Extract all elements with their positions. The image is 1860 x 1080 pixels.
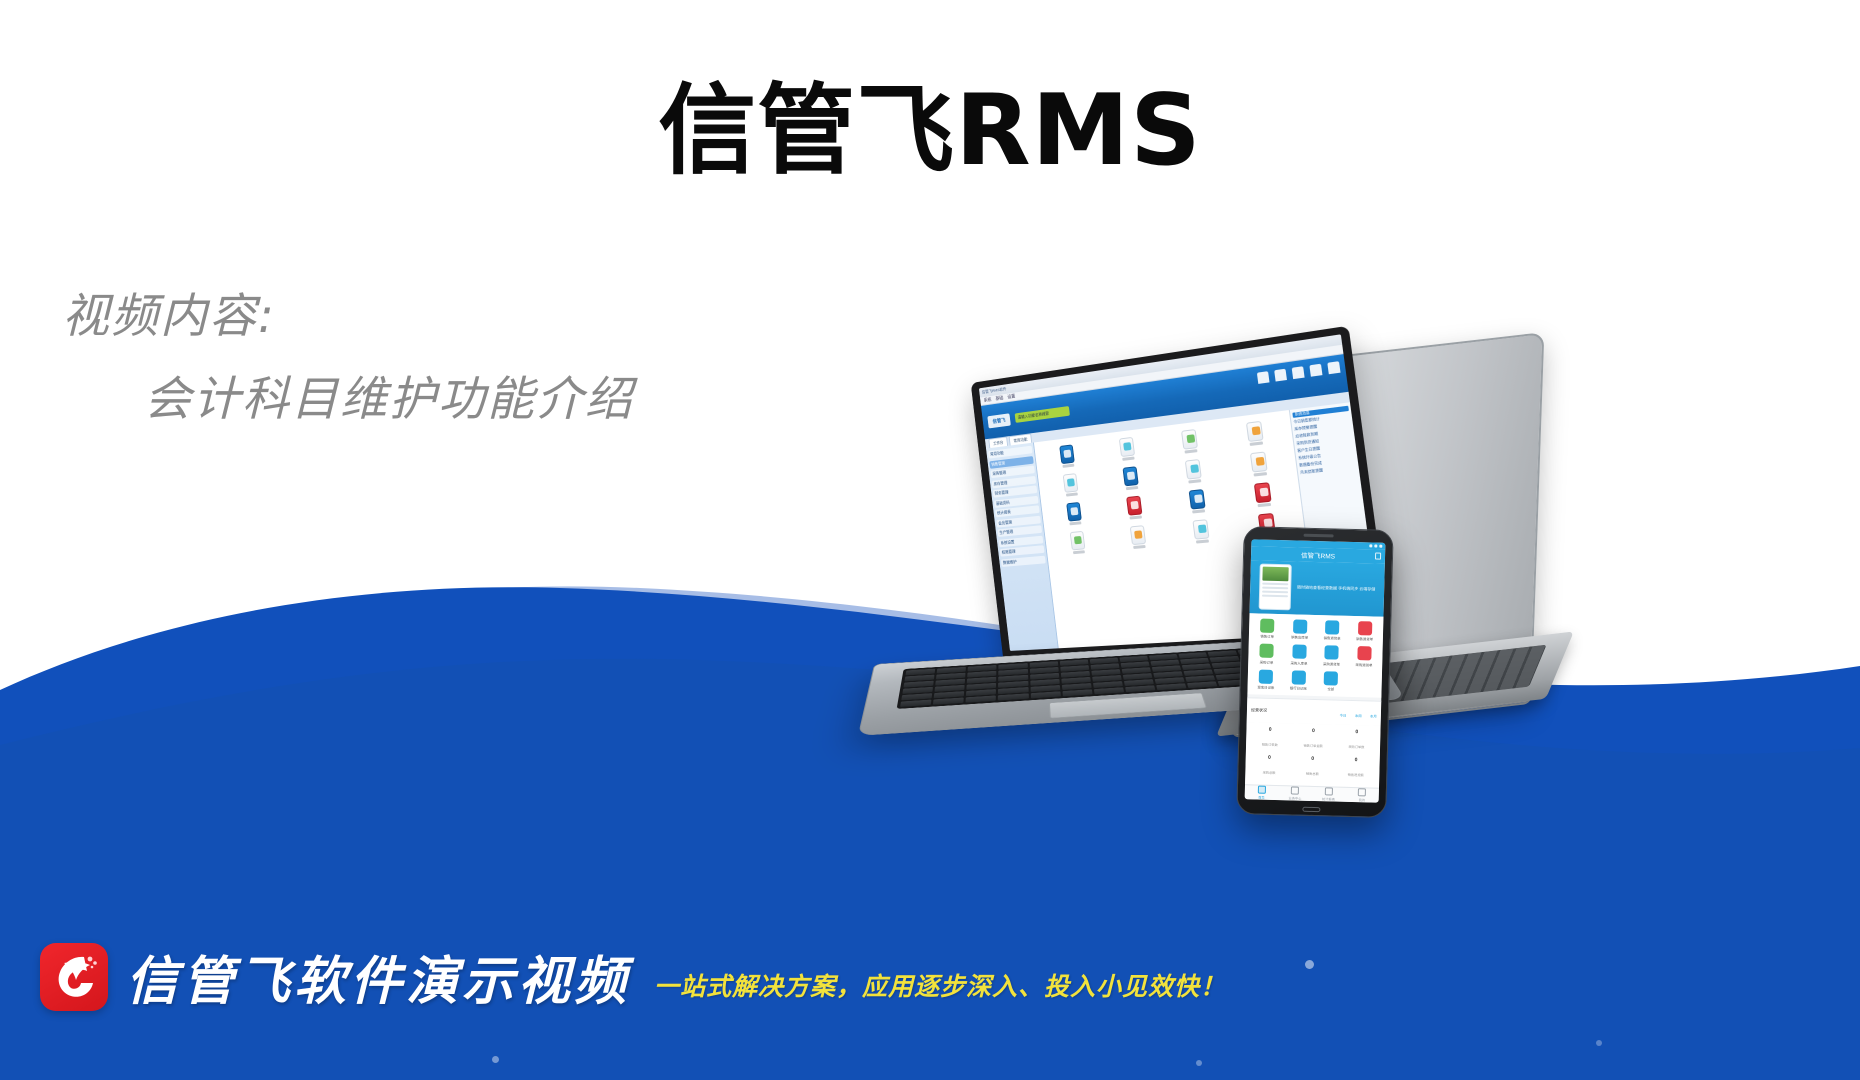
phone-section-header: 经营状况 今日 本周 本月 <box>1247 697 1382 725</box>
phone-icon-4 <box>1260 644 1274 658</box>
grid-icon-12 <box>1069 531 1085 551</box>
phone-icon-6 <box>1325 645 1339 659</box>
grid-icon-4 <box>1062 473 1078 493</box>
phone-tab-label-3: 我的 <box>1359 797 1366 802</box>
ribbon-icon-4[interactable] <box>1309 364 1324 388</box>
ribbon-icon-2[interactable] <box>1274 369 1288 393</box>
phone-tab-business[interactable]: 业务中心 <box>1278 786 1312 801</box>
banner-text: 随时随地查看经营数据 手机端同步 云端存储 <box>1297 585 1375 593</box>
phone-icon-grid: 销售订单 销售出库单 销售退货单 销售退货单 采购订单 采购入库单 采购退货单 … <box>1247 613 1383 698</box>
phone-icon-label-1: 销售出库单 <box>1291 634 1308 639</box>
grid-icon-1 <box>1119 437 1135 457</box>
phone-icon-9 <box>1291 670 1305 684</box>
phone-tab-label-0: 首页 <box>1258 795 1265 800</box>
phone-grid-item[interactable]: 银行日记账 <box>1283 670 1314 691</box>
desktop-app-logo: 信管飞 <box>987 413 1010 428</box>
banner-device-illustration <box>1258 564 1291 611</box>
phone-grid-item[interactable]: 采购订单 <box>1251 643 1282 664</box>
phone-stats-grid: 0销售订单数 0销售订单金额 0采购订单数 0采购总额 0销售总额 0销售退货额 <box>1245 722 1381 787</box>
grid-label-2 <box>1185 449 1198 453</box>
grid-icon <box>1291 786 1299 794</box>
grid-label-12 <box>1073 550 1085 554</box>
phone-speaker <box>1304 534 1334 538</box>
phone-grid-item[interactable]: 全部 <box>1316 671 1347 692</box>
stat-value-4: 0 <box>1291 755 1334 762</box>
desktop-grid-item[interactable] <box>1223 418 1289 449</box>
grid-label-8 <box>1069 521 1081 525</box>
phone-home-button[interactable] <box>1302 807 1320 812</box>
phone-grid-item[interactable]: 销售出库单 <box>1284 619 1315 640</box>
phone-app-title: 信管飞RMS <box>1301 550 1335 561</box>
phone-icon-label-4: 采购订单 <box>1260 659 1274 664</box>
slide-canvas: 信管飞RMS 视频内容: 会计科目维护功能介绍 信管飞RMS软件 系统 基础 设… <box>0 0 1860 1080</box>
decorative-dot <box>1196 1060 1202 1066</box>
phone-icon-label-10: 全部 <box>1327 686 1334 691</box>
phone-tabbar: 首页 业务中心 统计报表 我的 <box>1245 784 1379 803</box>
phone-icon-5 <box>1292 644 1306 658</box>
grid-icon-3 <box>1246 421 1264 442</box>
phone-filter-0[interactable]: 今日 <box>1340 714 1347 718</box>
grid-icon-10 <box>1189 489 1206 510</box>
decorative-dot <box>1305 960 1314 969</box>
grid-icon-13 <box>1130 525 1146 545</box>
phone-stat: 0销售订单数 <box>1248 726 1292 751</box>
grid-label-1 <box>1122 457 1134 461</box>
phone-stat: 0销售订单金额 <box>1291 727 1335 752</box>
desktop-grid-item[interactable] <box>1166 487 1230 516</box>
banner-image <box>1262 567 1288 582</box>
phone-menu-icon[interactable] <box>1375 553 1381 560</box>
bird-logo-icon <box>40 943 108 1011</box>
phone-icon-label-8: 现金日记账 <box>1257 684 1274 689</box>
decorative-dot <box>1596 1040 1602 1046</box>
grid-label-10 <box>1192 509 1205 513</box>
page-title: 信管飞RMS <box>0 78 1860 186</box>
phone-icon-3 <box>1358 621 1372 635</box>
phone-tab-home[interactable]: 首页 <box>1245 785 1279 800</box>
footer-brand-bar: 信管飞软件演示视频 一站式解决方案，应用逐步深入、投入小见效快！ <box>40 939 1226 1014</box>
phone-grid-item[interactable]: 采购退货单 <box>1316 645 1347 666</box>
phone-icon-0 <box>1260 618 1274 632</box>
desktop-grid-item[interactable] <box>1101 464 1162 493</box>
grid-label-6 <box>1188 479 1201 483</box>
desktop-grid-item[interactable] <box>1104 493 1165 521</box>
grid-label-3 <box>1250 441 1264 446</box>
phone-filter-1[interactable]: 本周 <box>1355 714 1362 718</box>
grid-label-13 <box>1133 545 1146 549</box>
phone-icon-1 <box>1293 619 1307 633</box>
stat-label-0: 销售订单数 <box>1262 743 1278 747</box>
desktop-grid-item[interactable] <box>1159 426 1222 456</box>
grid-label-0 <box>1062 464 1074 468</box>
phone-grid-item[interactable]: 销售退货单 <box>1349 620 1380 641</box>
phone-icon-label-2: 销售退货单 <box>1324 635 1341 640</box>
phone-icon-label-5: 采购入库单 <box>1290 660 1307 665</box>
grid-icon-5 <box>1122 466 1138 486</box>
phone-grid-item[interactable]: 采购退货单 <box>1349 646 1380 667</box>
desktop-grid-item[interactable] <box>1108 523 1169 551</box>
phone-device: 信管飞RMS 随时随地查看经营数据 手机端同步 云端存储 销售订单 销售出库单 … <box>1236 526 1393 818</box>
phone-tab-reports[interactable]: 统计报表 <box>1312 787 1346 802</box>
grid-icon-7 <box>1250 451 1268 472</box>
desktop-grid-item[interactable] <box>1038 442 1096 471</box>
stat-label-2: 采购订单数 <box>1348 745 1364 749</box>
ribbon-icon-5[interactable] <box>1327 361 1342 386</box>
grid-label-5 <box>1126 486 1138 490</box>
menu-item-0[interactable]: 系统 <box>983 397 991 404</box>
stat-value-5: 0 <box>1334 757 1377 764</box>
bird-logo-glyph <box>40 943 108 1011</box>
grid-icon-0 <box>1059 444 1075 464</box>
grid-label-4 <box>1066 492 1078 496</box>
stat-label-1: 销售订单金额 <box>1303 744 1322 748</box>
desktop-grid-item[interactable] <box>1227 449 1293 479</box>
grid-label-14 <box>1196 539 1209 543</box>
phone-tab-profile[interactable]: 我的 <box>1345 788 1379 803</box>
grid-icon-11 <box>1254 482 1272 503</box>
grid-icon-2 <box>1181 429 1198 450</box>
battery-icon <box>1379 545 1382 548</box>
phone-filter-2[interactable]: 本月 <box>1370 714 1377 718</box>
desktop-grid-item[interactable] <box>1097 434 1158 463</box>
desktop-search-input[interactable]: 请输入功能名称搜索 <box>1015 406 1070 423</box>
device-mockup-group: 信管飞RMS软件 系统 基础 设置 信管飞 请输入功能名称搜索 <box>860 370 1860 930</box>
sidebar-item-8[interactable]: 生产管理 <box>997 525 1042 537</box>
phone-section-title: 经营状况 <box>1251 707 1267 713</box>
phone-banner: 随时随地查看经营数据 手机端同步 云端存储 <box>1250 560 1385 616</box>
phone-grid-item[interactable]: 销售退货单 <box>1317 620 1348 641</box>
phone-tab-label-1: 业务中心 <box>1289 795 1302 800</box>
stat-label-4: 销售总额 <box>1306 772 1319 776</box>
signal-icon <box>1369 544 1372 547</box>
phone-grid-item[interactable]: 现金日记账 <box>1251 669 1282 690</box>
grid-label-11 <box>1258 503 1272 507</box>
phone-tab-label-2: 统计报表 <box>1322 796 1335 801</box>
menu-item-2[interactable]: 设置 <box>1007 393 1015 400</box>
stat-value-2: 0 <box>1335 729 1378 736</box>
stat-label-3: 采购总额 <box>1263 771 1276 775</box>
grid-icon-9 <box>1126 496 1142 516</box>
user-icon <box>1358 788 1366 796</box>
phone-icon-7 <box>1357 646 1371 660</box>
phone-stat: 0采购总额 <box>1247 754 1291 779</box>
stat-value-1: 0 <box>1292 727 1335 734</box>
phone-icon-label-3: 销售退货单 <box>1356 636 1373 641</box>
desktop-grid-item[interactable] <box>1170 517 1234 546</box>
phone-icon-10 <box>1324 671 1338 685</box>
desktop-grid-item[interactable] <box>1048 529 1106 556</box>
phone-stat: 0采购订单数 <box>1335 729 1379 754</box>
phone-icon-label-6: 采购退货单 <box>1323 661 1340 666</box>
grid-icon-8 <box>1066 502 1082 522</box>
desktop-grid-item[interactable] <box>1042 471 1100 499</box>
phone-stat: 0销售退货额 <box>1334 757 1378 782</box>
grid-label-7 <box>1254 472 1268 476</box>
phone-icon-2 <box>1325 620 1339 634</box>
stat-label-5: 销售退货额 <box>1348 773 1364 777</box>
phone-icon-label-9: 银行日记账 <box>1290 685 1307 690</box>
phone-icon-label-0: 销售订单 <box>1260 634 1274 639</box>
stat-value-0: 0 <box>1248 726 1291 733</box>
phone-icon-8 <box>1259 669 1273 683</box>
subtitle-label: 视频内容: <box>62 288 634 347</box>
chart-icon <box>1325 787 1333 795</box>
decorative-dot <box>492 1056 499 1063</box>
phone-grid-item[interactable]: 采购入库单 <box>1284 644 1315 665</box>
phone-grid-item[interactable]: 销售订单 <box>1252 618 1283 639</box>
ribbon-icon-3[interactable] <box>1292 366 1306 390</box>
home-icon <box>1258 786 1266 794</box>
phone-stat: 0销售总额 <box>1291 755 1335 780</box>
sidebar-item-11[interactable]: 数据维护 <box>1001 555 1046 566</box>
stat-value-3: 0 <box>1248 754 1291 761</box>
desktop-ribbon-icons <box>1257 361 1342 395</box>
footer-brand-text: 信管飞软件演示视频 <box>126 939 630 1014</box>
phone-icon-label-7: 采购退货单 <box>1355 662 1372 667</box>
desktop-grid-item[interactable] <box>1231 480 1297 510</box>
ribbon-icon-1[interactable] <box>1257 371 1271 395</box>
wifi-icon <box>1374 544 1377 547</box>
desktop-grid-item[interactable] <box>1045 500 1103 528</box>
subtitle-block: 视频内容: 会计科目维护功能介绍 <box>62 288 634 430</box>
sidebar-item-10[interactable]: 权限管理 <box>1000 545 1045 556</box>
subtitle-topic: 会计科目维护功能介绍 <box>144 371 634 430</box>
grid-icon-6 <box>1185 459 1202 480</box>
desktop-grid-item[interactable] <box>1162 456 1225 486</box>
grid-icon-14 <box>1193 519 1210 539</box>
footer-tagline: 一站式解决方案，应用逐步深入、投入小见效快！ <box>654 967 1226 1003</box>
phone-screen: 信管飞RMS 随时随地查看经营数据 手机端同步 云端存储 销售订单 销售出库单 … <box>1245 539 1386 802</box>
grid-label-9 <box>1129 515 1141 519</box>
menu-item-1[interactable]: 基础 <box>995 395 1003 402</box>
